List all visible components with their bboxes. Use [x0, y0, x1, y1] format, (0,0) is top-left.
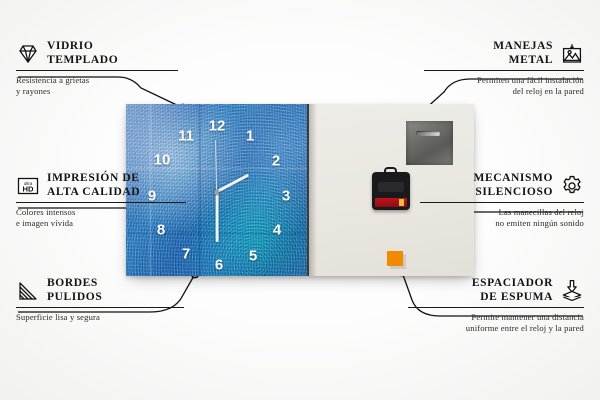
- clock-numeral-4: 4: [273, 223, 281, 238]
- callout-title: VIDRIO TEMPLADO: [47, 40, 118, 67]
- callout-title-line-1: MECANISMO: [473, 172, 553, 186]
- callout-manejas-metal[interactable]: MANEJAS METAL Permiten una fácil instala…: [424, 40, 584, 98]
- hanger-keyhole-slot: [416, 131, 440, 136]
- mechanism-hanging-loop: [384, 167, 397, 175]
- clock-numeral-7: 7: [182, 247, 190, 262]
- callout-description: Superficie lisa y segura: [16, 312, 184, 323]
- callout-description: Las manecillas del reloj no emiten ningú…: [420, 207, 584, 230]
- infographic-canvas: 12 1 2 3 4 5 6 7 8 9 10 11: [0, 0, 600, 400]
- foam-spacer-pad: [387, 251, 403, 266]
- callout-title: IMPRESIÓN DE ALTA CALIDAD: [47, 172, 140, 199]
- clock-numeral-3: 3: [282, 189, 290, 204]
- mechanism-detail: [378, 182, 404, 192]
- callout-title: MANEJAS METAL: [493, 40, 553, 67]
- clock-numeral-1: 1: [246, 129, 254, 144]
- diamond-icon: [16, 42, 40, 66]
- framed-picture-icon: [560, 42, 584, 66]
- callout-impresion-alta-calidad[interactable]: ultra HD IMPRESIÓN DE ALTA CALIDAD Color…: [16, 172, 186, 230]
- callout-divider: [420, 202, 584, 203]
- ultra-hd-icon: ultra HD: [16, 174, 40, 198]
- battery-terminal: [399, 199, 404, 206]
- callout-title-line-1: BORDES: [47, 277, 102, 291]
- svg-text:HD: HD: [23, 184, 34, 193]
- callout-title-line-2: DE ESPUMA: [472, 291, 553, 305]
- callout-header: ESPACIADOR DE ESPUMA: [408, 277, 584, 304]
- battery: [375, 198, 407, 207]
- callout-divider: [16, 202, 186, 203]
- callout-title-line-2: PULIDOS: [47, 291, 102, 305]
- callout-vidrio-templado[interactable]: VIDRIO TEMPLADO Resistencia a grietas y …: [16, 40, 178, 98]
- callout-title-line-1: VIDRIO: [47, 40, 118, 54]
- callout-description: Resistencia a grietas y rayones: [16, 75, 178, 98]
- callout-title-line-2: SILENCIOSO: [473, 186, 553, 200]
- clock-numeral-5: 5: [249, 249, 257, 264]
- callout-divider: [408, 307, 584, 308]
- callout-divider: [16, 307, 184, 308]
- foam-spacer-icon: [560, 279, 584, 303]
- clock-minute-hand: [216, 192, 219, 242]
- clock-numeral-11: 11: [178, 129, 194, 144]
- callout-title-line-2: ALTA CALIDAD: [47, 186, 140, 200]
- clock-numeral-10: 10: [154, 153, 171, 168]
- gear-icon: [560, 174, 584, 198]
- callout-description: Colores intensos e imagen vívida: [16, 207, 186, 230]
- callout-title-line-1: MANEJAS: [493, 40, 553, 54]
- callout-header: MECANISMO SILENCIOSO: [420, 172, 584, 199]
- callout-header: ultra HD IMPRESIÓN DE ALTA CALIDAD: [16, 172, 186, 199]
- callout-espaciador-de-espuma[interactable]: ESPACIADOR DE ESPUMA Permite mantener un…: [408, 277, 584, 335]
- clock-numeral-2: 2: [272, 154, 280, 169]
- callout-header: MANEJAS METAL: [424, 40, 584, 67]
- metal-hanger-plate: [406, 121, 453, 165]
- callout-description: Permite mantener una distancia uniforme …: [408, 312, 584, 335]
- callout-title-line-2: METAL: [493, 54, 553, 68]
- callout-divider: [16, 70, 178, 71]
- callout-title-line-1: ESPACIADOR: [472, 277, 553, 291]
- clock-numeral-12: 12: [209, 119, 226, 134]
- panel-edge-shadow: [309, 104, 317, 276]
- callout-bordes-pulidos[interactable]: BORDES PULIDOS Superficie lisa y segura: [16, 277, 184, 323]
- callout-header: VIDRIO TEMPLADO: [16, 40, 178, 67]
- callout-title: MECANISMO SILENCIOSO: [473, 172, 553, 199]
- callout-header: BORDES PULIDOS: [16, 277, 184, 304]
- callout-title: ESPACIADOR DE ESPUMA: [472, 277, 553, 304]
- quartz-mechanism: [372, 172, 410, 210]
- callout-title-line-1: IMPRESIÓN DE: [47, 172, 140, 186]
- clock-numeral-6: 6: [215, 258, 223, 273]
- callout-mecanismo-silencioso[interactable]: MECANISMO SILENCIOSO Las manecillas del …: [420, 172, 584, 230]
- polished-edges-icon: [16, 279, 40, 303]
- callout-divider: [424, 70, 584, 71]
- callout-title: BORDES PULIDOS: [47, 277, 102, 304]
- callout-description: Permiten una fácil instalación del reloj…: [424, 75, 584, 98]
- clock-center-pin: [214, 190, 219, 195]
- callout-title-line-2: TEMPLADO: [47, 54, 118, 68]
